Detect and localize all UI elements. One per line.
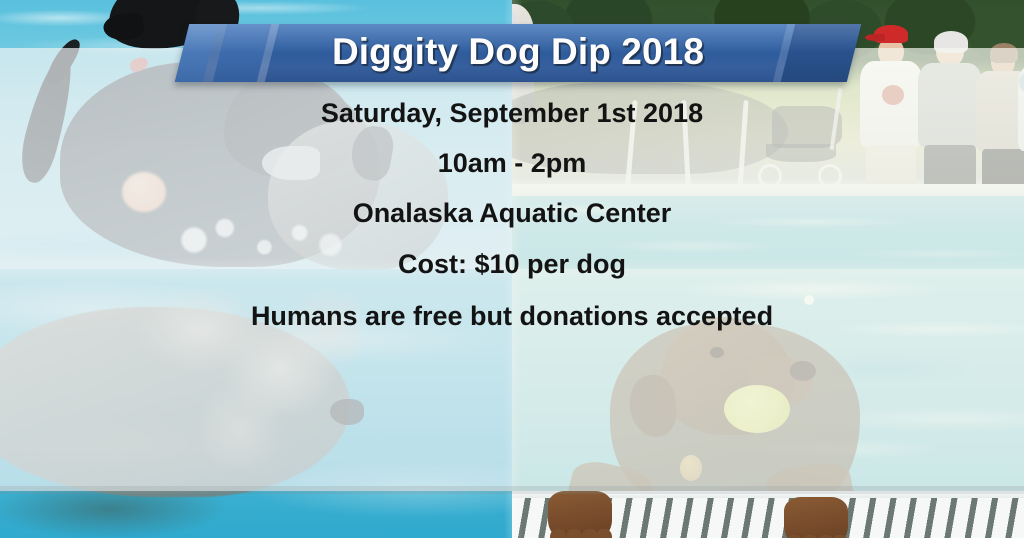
overlay-bottom-edge <box>0 486 1024 494</box>
retriever-paw <box>784 497 848 538</box>
event-cost: Cost: $10 per dog <box>398 251 626 278</box>
retriever-paw <box>548 491 612 538</box>
event-details: Saturday, September 1st 2018 10am - 2pm … <box>0 100 1024 330</box>
event-poster: Diggity Dog Dip 2018 Saturday, September… <box>0 0 1024 538</box>
event-date: Saturday, September 1st 2018 <box>321 100 703 127</box>
event-time: 10am - 2pm <box>438 150 587 177</box>
event-donation-note: Humans are free but donations accepted <box>251 303 773 330</box>
red-baseball-cap <box>874 25 908 43</box>
event-location: Onalaska Aquatic Center <box>353 200 672 227</box>
title-banner: Diggity Dog Dip 2018 <box>182 24 854 82</box>
page-title: Diggity Dog Dip 2018 <box>182 24 854 82</box>
